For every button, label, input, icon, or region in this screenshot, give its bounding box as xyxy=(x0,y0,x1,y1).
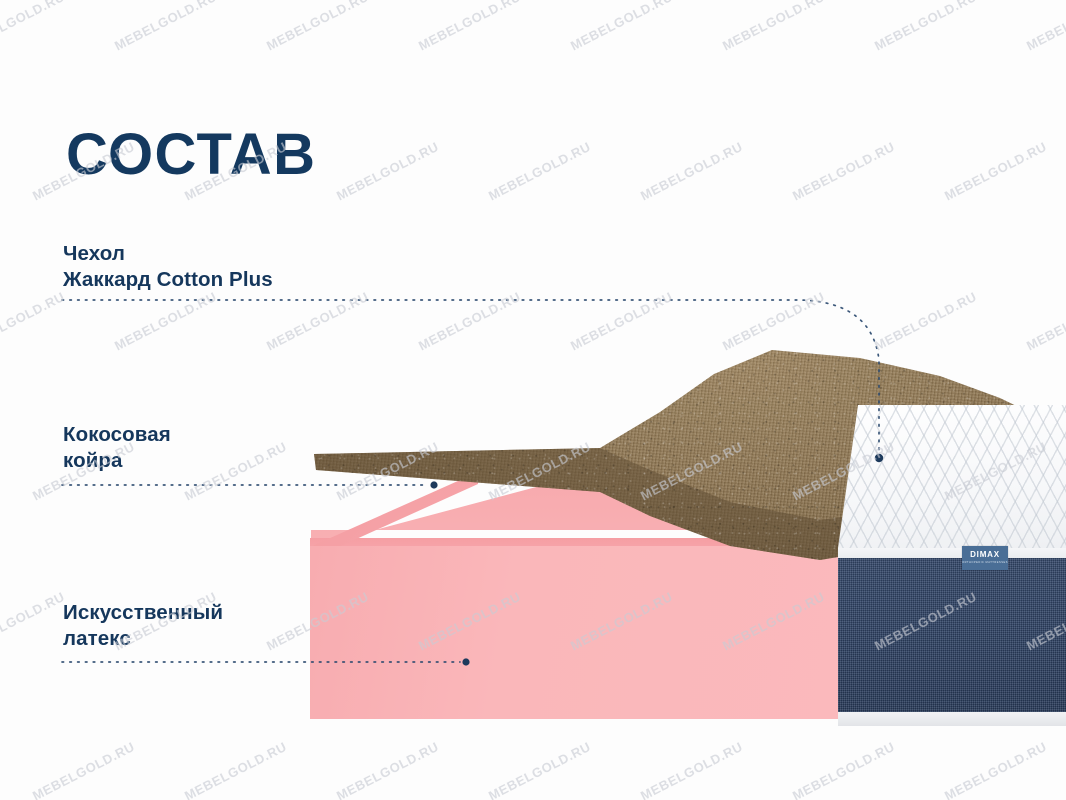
bottom-welt xyxy=(838,712,1066,726)
label-latex: Искусственный латекс xyxy=(63,600,223,652)
dimax-brand-name: DIMAX xyxy=(970,551,1000,559)
mattress-illustration: DIMAX ORTHOPEDIC MATTRESSES xyxy=(0,0,1066,800)
label-cover: Чехол Жаккард Cotton Plus xyxy=(63,241,273,293)
label-coir-line1: Кокосовая xyxy=(63,422,171,448)
label-cover-line1: Чехол xyxy=(63,241,273,267)
side-fabric-band xyxy=(838,558,1066,720)
label-latex-line2: латекс xyxy=(63,626,223,652)
quilted-cover-top xyxy=(838,398,1066,563)
page-title: СОСТАВ xyxy=(66,126,317,184)
label-coir-line2: койра xyxy=(63,448,171,474)
dimax-brand-tag: DIMAX ORTHOPEDIC MATTRESSES xyxy=(962,546,1008,570)
dimax-brand-subtitle: ORTHOPEDIC MATTRESSES xyxy=(962,561,1008,565)
label-coir: Кокосовая койра xyxy=(63,422,171,474)
label-latex-line1: Искусственный xyxy=(63,600,223,626)
composition-infographic: DIMAX ORTHOPEDIC MATTRESSES СОСТАВ Чехол… xyxy=(0,0,1066,800)
label-cover-line2: Жаккард Cotton Plus xyxy=(63,267,273,293)
